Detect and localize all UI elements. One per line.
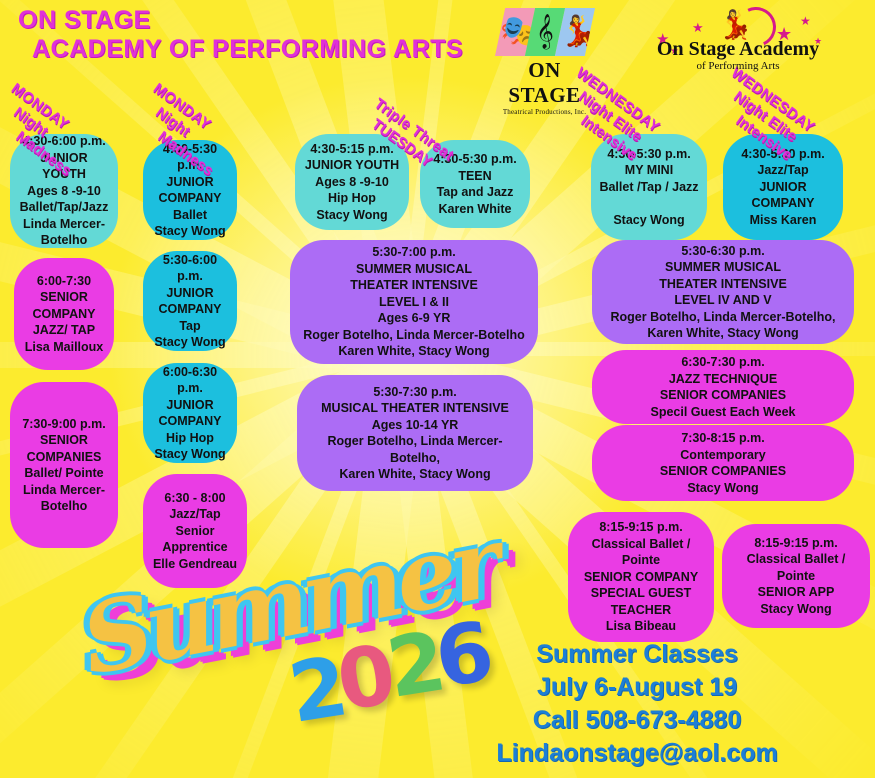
class-card-line: Karen White, Stacy Wong [600,325,846,342]
class-card-line: Ballet/Tap/Jazz [18,199,110,216]
class-card-line: COMPANY [151,413,229,430]
poster-canvas: ON STAGE ACADEMY OF PERFORMING ARTS 🎭 𝄞 … [0,0,875,778]
page-title: ON STAGE ACADEMY OF PERFORMING ARTS [18,6,463,64]
class-card-line: 8:15-9:15 p.m. [576,519,706,536]
class-card-line: LEVEL IV AND V [600,292,846,309]
class-card-line: 5:30-6:00 p.m. [151,252,229,285]
class-card-line: Tap [151,318,229,335]
class-card-line: SENIOR COMPANIES [600,387,846,404]
class-card-line: Stacy Wong [151,223,229,240]
class-card-line: JUNIOR [151,397,229,414]
class-card-line: THEATER INTENSIVE [600,276,846,293]
class-card-line: 8:15-9:15 p.m. [730,535,862,552]
class-card-line: Ballet [151,207,229,224]
class-card-line: Linda Mercer- [18,482,110,499]
class-card-line: SENIOR COMPANY [576,569,706,586]
academy-logo-title: On Stage Academy [648,38,828,61]
class-card[interactable]: 7:30-8:15 p.m.ContemporarySENIOR COMPANI… [592,425,854,501]
class-card-line: 6:30 - 8:00 [151,490,239,507]
class-card[interactable]: 8:15-9:15 p.m.Classical Ballet /PointeSE… [568,512,714,642]
dancer-icon: 💃 [554,8,594,56]
star-icon: ★ [800,14,811,28]
class-card-line: SENIOR [22,289,106,306]
class-card-line: Ballet/ Pointe [18,465,110,482]
class-card-line: 7:30-8:15 p.m. [600,430,846,447]
class-card-line: Ages 10-14 YR [305,417,525,434]
class-card-line: Roger Botelho, Linda Mercer-Botelho, [305,433,525,466]
class-card-line: SENIOR COMPANIES [600,463,846,480]
logo-tagline: Theatrical Productions, Inc. [497,108,592,116]
class-card-line: Tap and Jazz [428,184,522,201]
class-card-line: SUMMER MUSICAL [298,261,530,278]
on-stage-academy-logo: ★ ★ ★ ★ ★ ★ 💃 On Stage Academy of Perfor… [648,8,828,78]
class-card-line: 7:30-9:00 p.m. [18,416,110,433]
ballet-dancer-icon: 💃 [718,8,753,41]
class-card-line: Karen White, Stacy Wong [305,466,525,483]
class-card-line: JAZZ TECHNIQUE [600,371,846,388]
class-card-line: JUNIOR [151,285,229,302]
class-card-line: Lisa Bibeau [576,618,706,635]
class-card-line: Karen White, Stacy Wong [298,343,530,360]
star-icon: ★ [692,20,704,36]
logo-color-bars: 🎭 𝄞 💃 [494,8,594,56]
title-line-2: ACADEMY OF PERFORMING ARTS [32,34,463,64]
class-card-line: 6:30-7:30 p.m. [600,354,846,371]
class-card-line: Lisa Mailloux [22,339,106,356]
class-card[interactable]: 6:30-7:30 p.m.JAZZ TECHNIQUESENIOR COMPA… [592,350,854,424]
class-card-line: COMPANY [151,190,229,207]
class-card-line: MUSICAL THEATER INTENSIVE [305,400,525,417]
class-card[interactable]: 4:30-5:15 p.m.JUNIOR YOUTHAges 8 -9-10Hi… [295,134,409,230]
class-card-line: SPECIAL GUEST [576,585,706,602]
class-card-line: 6:00-6:30 p.m. [151,364,229,397]
class-card-line: Stacy Wong [600,480,846,497]
class-card-line: SENIOR APP [730,584,862,601]
class-card-line: MY MINI [599,162,699,179]
class-card-line: Karen White [428,201,522,218]
logo-name: ON STAGE [497,58,592,108]
class-card-line: Specil Guest Each Week [600,404,846,421]
footer-line-2: July 6-August 19 [417,671,857,704]
class-card-line: Hip Hop [151,430,229,447]
class-card-line: Stacy Wong [151,334,229,351]
class-card-line: Stacy Wong [303,207,401,224]
class-card-line: Pointe [576,552,706,569]
class-card[interactable]: 6:00-7:30SENIORCOMPANYJAZZ/ TAPLisa Mail… [14,258,114,370]
class-card-line: COMPANY [151,301,229,318]
class-card-line: Stacy Wong [730,601,862,618]
academy-logo-subtitle: of Performing Arts [648,60,828,72]
on-stage-theatrical-logo: 🎭 𝄞 💃 ON STAGE Theatrical Productions, I… [497,8,592,88]
class-card-line: LEVEL I & II [298,294,530,311]
class-card[interactable]: 5:30-6:30 p.m.SUMMER MUSICALTHEATER INTE… [592,240,854,344]
class-card[interactable]: 5:30-6:00 p.m.JUNIORCOMPANYTapStacy Wong [143,251,237,351]
class-card-line: Classical Ballet / [576,536,706,553]
class-card-line: COMPANY [731,195,835,212]
class-card-line: THEATER INTENSIVE [298,277,530,294]
class-card-line: TEACHER [576,602,706,619]
class-card-line: Ages 8 -9-10 [18,183,110,200]
class-card-line: 5:30-7:30 p.m. [305,384,525,401]
class-card-line: Hip Hop [303,190,401,207]
title-line-1: ON STAGE [18,6,463,34]
class-card-line: JUNIOR [151,174,229,191]
class-card-line: 5:30-6:30 p.m. [600,243,846,260]
footer-phone[interactable]: Call 508-673-4880 [417,704,857,737]
class-card-line: COMPANIES [18,449,110,466]
class-card-line [599,195,699,212]
class-card-line: Roger Botelho, Linda Mercer-Botelho [298,327,530,344]
class-card[interactable]: 5:30-7:30 p.m.MUSICAL THEATER INTENSIVEA… [297,375,533,491]
class-card-line: Stacy Wong [151,446,229,463]
class-card[interactable]: 6:00-6:30 p.m.JUNIORCOMPANYHip HopStacy … [143,363,237,463]
class-card-line: Linda Mercer- [18,216,110,233]
class-card-line: Ages 6-9 YR [298,310,530,327]
class-card-line: Miss Karen [731,212,835,229]
class-card-line: Ages 8 -9-10 [303,174,401,191]
class-card-line: COMPANY [22,306,106,323]
class-card-line: JAZZ/ TAP [22,322,106,339]
class-card-line: 6:00-7:30 [22,273,106,290]
class-card-line: Botelho [18,232,110,249]
class-card-line: SENIOR [18,432,110,449]
footer-email[interactable]: Lindaonstage@aol.com [417,737,857,770]
class-card-line: JUNIOR YOUTH [303,157,401,174]
class-card-line: JUNIOR [731,179,835,196]
class-card[interactable]: 5:30-7:00 p.m.SUMMER MUSICALTHEATER INTE… [290,240,538,364]
footer-line-1: Summer Classes [417,638,857,671]
class-card-line: SUMMER MUSICAL [600,259,846,276]
class-card-line: Contemporary [600,447,846,464]
class-card-line: Ballet /Tap / Jazz [599,179,699,196]
class-card-line: Jazz/Tap [731,162,835,179]
class-card-line: Roger Botelho, Linda Mercer-Botelho, [600,309,846,326]
class-card-line: Classical Ballet / Pointe [730,551,862,584]
class-card-line: Stacy Wong [599,212,699,229]
footer-info: Summer Classes July 6-August 19 Call 508… [417,638,857,770]
class-card-line: 5:30-7:00 p.m. [298,244,530,261]
class-card[interactable]: 8:15-9:15 p.m.Classical Ballet / PointeS… [722,524,870,628]
